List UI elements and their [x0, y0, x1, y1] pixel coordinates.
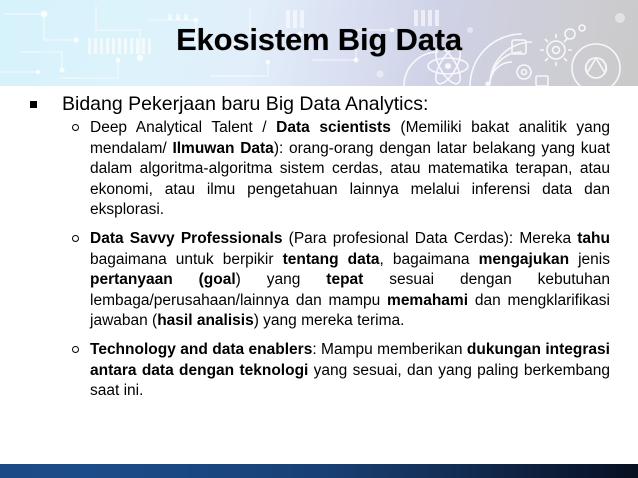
list-item: Data Savvy Professionals (Para profesion…	[0, 229, 638, 332]
list-item: Technology and data enablers: Mampu memb…	[0, 340, 638, 402]
circle-bullet-icon	[72, 124, 79, 131]
slide-footer-bar	[0, 464, 638, 478]
slide: Ekosistem Big Data Bidang Pekerjaan baru…	[0, 0, 638, 478]
list-item: Deep Analytical Talent / Data scientists…	[0, 118, 638, 221]
slide-body: Bidang Pekerjaan baru Big Data Analytics…	[0, 86, 638, 464]
list-item-text: Data Savvy Professionals (Para profesion…	[90, 230, 610, 329]
heading-bullet-item: Bidang Pekerjaan baru Big Data Analytics…	[0, 92, 638, 116]
circle-bullet-icon	[72, 235, 79, 242]
list-item-text: Deep Analytical Talent / Data scientists…	[90, 119, 610, 218]
slide-header-banner: Ekosistem Big Data	[0, 0, 638, 86]
sub-bullet-list: Deep Analytical Talent / Data scientists…	[0, 118, 638, 402]
slide-title: Ekosistem Big Data	[0, 0, 638, 86]
square-bullet-icon	[30, 101, 37, 108]
heading-text: Bidang Pekerjaan baru Big Data Analytics…	[62, 93, 428, 115]
list-item-text: Technology and data enablers: Mampu memb…	[90, 341, 610, 399]
circle-bullet-icon	[72, 346, 79, 353]
